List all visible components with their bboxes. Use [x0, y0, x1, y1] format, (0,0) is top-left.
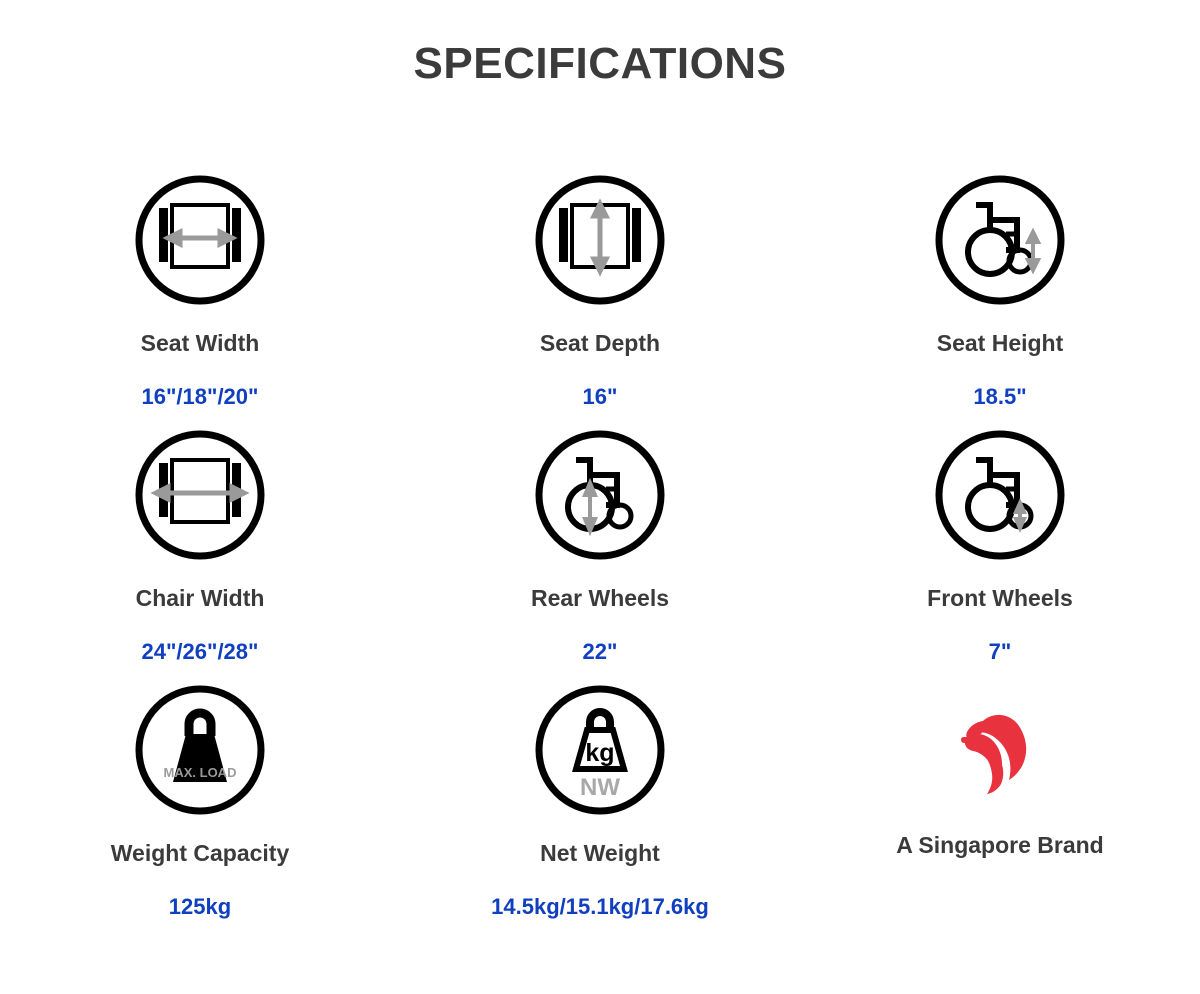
spec-cell-seat-height: Seat Height 18.5" — [800, 172, 1200, 427]
seat-depth-icon — [532, 172, 668, 308]
spec-value: 16"/18"/20" — [142, 384, 259, 410]
spec-cell-seat-width: Seat Width 16"/18"/20" — [0, 172, 400, 427]
spec-value: 7" — [989, 639, 1012, 665]
rear-wheels-icon — [532, 427, 668, 563]
spec-cell-net-weight: kg NW Net Weight 14.5kg/15.1kg/17.6kg — [400, 682, 800, 942]
spec-label: Weight Capacity — [111, 840, 290, 868]
chair-width-icon — [132, 427, 268, 563]
spec-cell-singapore-brand: A Singapore Brand — [800, 682, 1200, 942]
spec-label: A Singapore Brand — [896, 832, 1103, 860]
seat-width-icon — [132, 172, 268, 308]
spec-label: Front Wheels — [927, 585, 1073, 613]
spec-value: 18.5" — [973, 384, 1026, 410]
spec-label: Seat Depth — [540, 330, 660, 358]
net-weight-icon: kg NW — [532, 682, 668, 818]
spec-value: 16" — [583, 384, 618, 410]
seat-height-icon — [932, 172, 1068, 308]
spec-value: 14.5kg/15.1kg/17.6kg — [491, 894, 709, 920]
spec-label: Net Weight — [540, 840, 660, 868]
net-weight-icon-text: kg — [585, 739, 614, 767]
spec-cell-rear-wheels: Rear Wheels 22" — [400, 427, 800, 682]
spec-value: 125kg — [169, 894, 231, 920]
specifications-grid: Seat Width 16"/18"/20" Seat Depth — [0, 172, 1200, 942]
spec-cell-seat-depth: Seat Depth 16" — [400, 172, 800, 427]
spec-cell-weight-capacity: MAX. LOAD Weight Capacity 125kg — [0, 682, 400, 942]
spec-value: 24"/26"/28" — [142, 639, 259, 665]
front-wheels-icon — [932, 427, 1068, 563]
page-title: SPECIFICATIONS — [0, 0, 1200, 91]
spec-label: Rear Wheels — [531, 585, 669, 613]
max-load-weight-icon: MAX. LOAD — [132, 682, 268, 818]
max-load-icon-text: MAX. LOAD — [164, 765, 237, 780]
spec-label: Seat Height — [937, 330, 1064, 358]
spec-label: Chair Width — [136, 585, 265, 613]
spec-value: 22" — [583, 639, 618, 665]
spec-cell-front-wheels: Front Wheels 7" — [800, 427, 1200, 682]
specifications-page: SPECIFICATIONS Seat Width 16"/18"/20 — [0, 0, 1200, 994]
singapore-lion-logo — [945, 690, 1055, 800]
spec-cell-chair-width: Chair Width 24"/26"/28" — [0, 427, 400, 682]
net-weight-icon-subtext: NW — [580, 774, 620, 801]
spec-label: Seat Width — [141, 330, 260, 358]
